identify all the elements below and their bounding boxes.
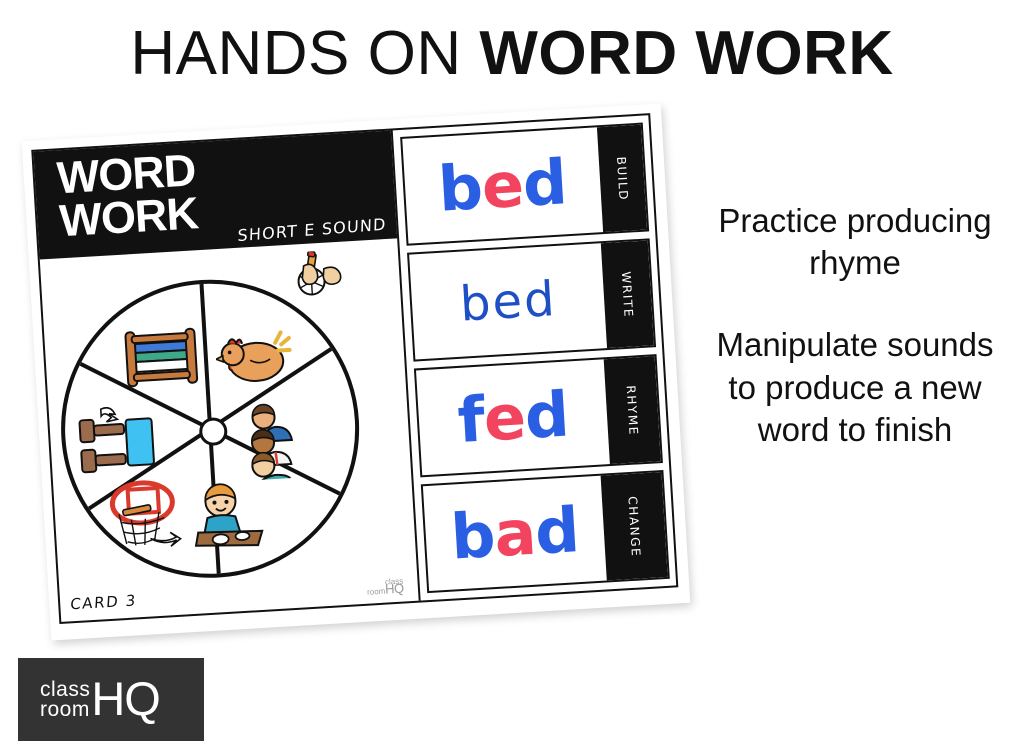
word-strip-change-tab: CHANGE	[601, 472, 668, 580]
card-number: CARD 3	[70, 591, 138, 613]
classroom-hq-logo: class room HQ	[18, 658, 204, 741]
bed-icon	[116, 314, 207, 405]
hand-with-pencil-spinner-icon	[292, 250, 347, 299]
card-body: CARD 3 class roomHQ	[40, 238, 419, 622]
legs-icon	[71, 397, 162, 488]
description-paragraph-2: Manipulate sounds to produce a new word …	[700, 324, 1010, 451]
card-watermark-line2: room	[367, 587, 386, 597]
card-content: WORD WORK SHORT E SOUND	[31, 113, 678, 624]
card-watermark-mark: HQ	[385, 581, 404, 597]
description-paragraph-1: Practice producing rhyme	[700, 200, 1010, 284]
spinner-hub	[198, 417, 228, 447]
hen-icon	[209, 313, 300, 404]
logo-hq-mark: HQ	[91, 678, 160, 720]
word-strip-build-word: bed	[402, 127, 603, 243]
word-strip-change-tab-label: CHANGE	[625, 495, 643, 557]
word-strip-change-word: bad	[423, 476, 607, 591]
logo-line2: room	[40, 700, 90, 720]
word-strip-rhyme-tab: RHYME	[604, 356, 661, 464]
word-strip-change[interactable]: bad CHANGE	[421, 470, 670, 593]
word-strip-build[interactable]: bed BUILD	[400, 123, 649, 246]
word-strip-write-tab: WRITE	[601, 240, 654, 348]
word-strip-rhyme-tab-label: RHYME	[624, 384, 641, 435]
word-strip-build-tab: BUILD	[596, 125, 647, 232]
card-header-line2: WORK	[58, 191, 199, 242]
word-strip-write[interactable]: bed WRITE	[407, 238, 656, 361]
boy-eating-icon	[186, 468, 277, 559]
description-spacer	[700, 284, 1010, 324]
page-title-light: HANDS ON	[130, 19, 479, 88]
word-strip-rhyme-word: fed	[416, 359, 611, 475]
page-title: HANDS ON WORD WORK	[0, 18, 1024, 89]
logo-line1: class	[40, 680, 90, 700]
card-left-column: WORD WORK SHORT E SOUND	[33, 130, 420, 622]
word-strip-write-tab-label: WRITE	[619, 271, 636, 318]
card-watermark: class roomHQ	[366, 578, 404, 596]
word-strip-build-tab-label: BUILD	[613, 156, 630, 201]
word-work-card: WORD WORK SHORT E SOUND	[22, 103, 691, 640]
description-block: Practice producing rhyme Manipulate soun…	[700, 200, 1010, 451]
card-header-banner: WORD WORK SHORT E SOUND	[33, 131, 397, 260]
card-header-title: WORD WORK	[56, 148, 199, 242]
page-title-bold: WORD WORK	[479, 19, 893, 88]
word-strip-write-word: bed	[409, 243, 607, 359]
spinner-wheel[interactable]	[53, 271, 368, 586]
logo-wordmark-stack: class room	[40, 680, 90, 720]
word-strips: bed BUILD bed WRITE fed RHYME	[392, 115, 676, 600]
word-strip-rhyme[interactable]: fed RHYME	[414, 354, 663, 477]
